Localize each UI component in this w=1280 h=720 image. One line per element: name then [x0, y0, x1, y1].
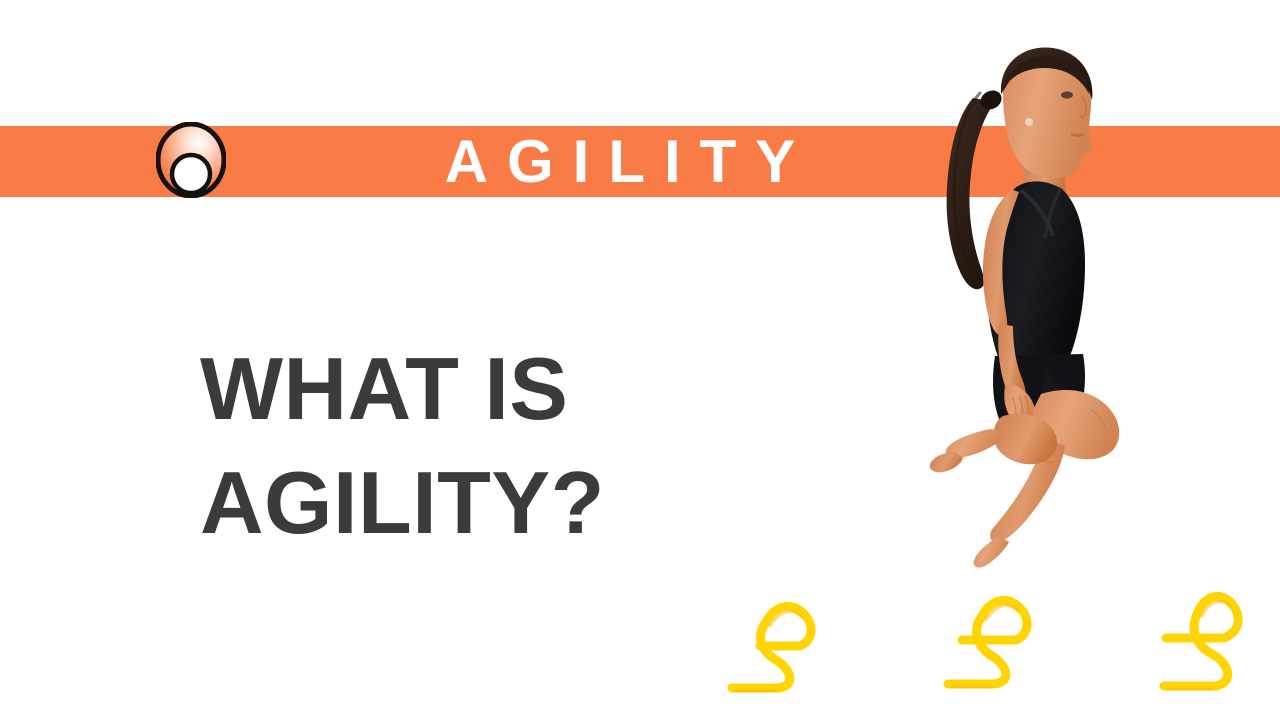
agility-hurdle-3	[1146, 570, 1256, 695]
headline-line-1: WHAT IS	[200, 332, 800, 446]
earring	[1025, 118, 1033, 126]
banner-title: AGILITY	[380, 126, 860, 197]
athlete-photo	[895, 38, 1135, 568]
page-headline: WHAT IS AGILITY?	[200, 332, 800, 560]
mouth-line	[1071, 134, 1083, 136]
agility-hurdle-2	[936, 572, 1046, 697]
headline-line-2: AGILITY?	[200, 446, 800, 560]
back-foot	[930, 452, 963, 472]
slide-canvas: AGILITY WHAT IS AGILITY?	[0, 0, 1280, 720]
brand-logo-icon	[156, 122, 226, 198]
front-foot	[974, 536, 1009, 568]
agility-hurdle-1	[722, 578, 832, 703]
